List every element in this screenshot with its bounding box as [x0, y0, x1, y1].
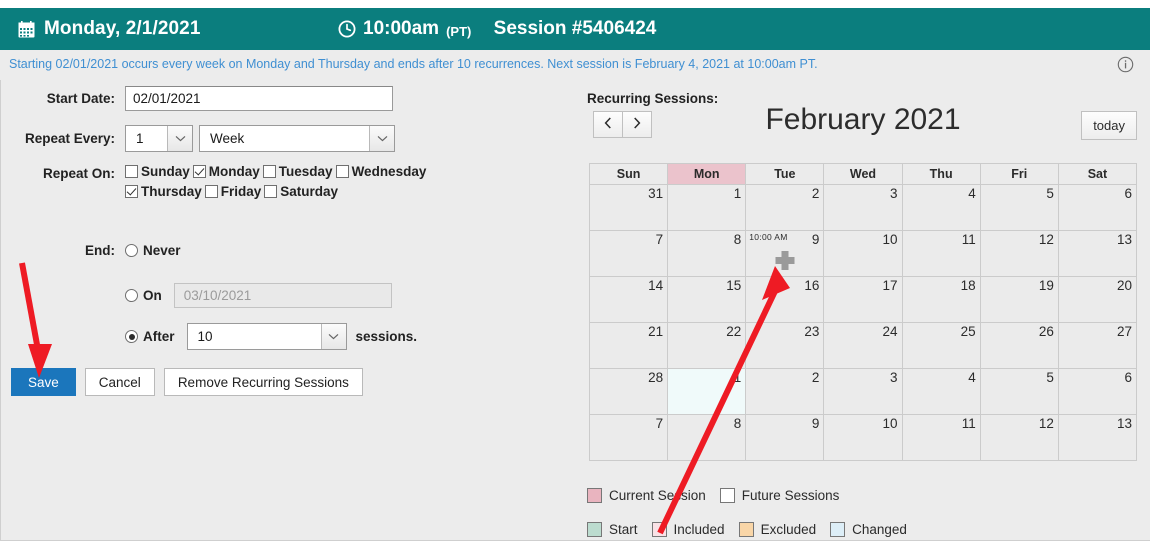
legend-swatch [587, 522, 602, 537]
day-number: 12 [1039, 232, 1054, 247]
calendar-day-cell[interactable]: 9 [746, 415, 824, 461]
day-number: 23 [804, 324, 819, 339]
day-number: 7 [656, 416, 664, 431]
day-number: 16 [804, 278, 819, 293]
day-number: 11 [962, 232, 976, 247]
day-number: 6 [1124, 186, 1132, 201]
weekday-checkbox-friday[interactable]: Friday [205, 184, 262, 199]
day-number: 31 [648, 186, 663, 201]
calendar-day-cell[interactable]: 2 [746, 185, 824, 231]
legend-label: Start [609, 522, 638, 537]
calendar-day-cell[interactable]: 22 [668, 323, 746, 369]
calendar-day-cell[interactable]: 11 [902, 231, 980, 277]
end-label: End: [1, 243, 115, 258]
weekday-header-thu: Thu [902, 164, 980, 185]
calendar-week-row: 7810:00 AM910111213 [590, 231, 1137, 277]
day-number: 28 [648, 370, 663, 385]
calendar-day-cell[interactable]: 10:00 AM9 [746, 231, 824, 277]
calendar-week-row: 21222324252627 [590, 323, 1137, 369]
calendar-day-cell[interactable]: 18 [902, 277, 980, 323]
calendar-day-cell[interactable]: 27 [1058, 323, 1136, 369]
end-after-radio[interactable] [125, 330, 138, 343]
repeat-interval-select[interactable]: 1 [125, 125, 193, 152]
calendar-day-cell[interactable]: 31 [590, 185, 668, 231]
save-button[interactable]: Save [11, 368, 76, 396]
weekday-checkbox-tuesday[interactable]: Tuesday [263, 164, 333, 179]
session-time-label: 10:00 AM [749, 232, 787, 242]
legend-label: Future Sessions [742, 488, 840, 503]
calendar-weekday-header: Sun Mon Tue Wed Thu Fri Sat [590, 164, 1137, 185]
calendar-week-row: 14151617181920 [590, 277, 1137, 323]
day-number: 24 [883, 324, 898, 339]
calendar-icon [18, 21, 35, 38]
calendar-day-cell[interactable]: 8 [668, 231, 746, 277]
calendar-day-cell[interactable]: 5 [980, 185, 1058, 231]
weekday-checkbox-sunday[interactable]: Sunday [125, 164, 190, 179]
day-number: 12 [1039, 416, 1054, 431]
calendar-day-cell[interactable]: 3 [824, 369, 902, 415]
day-number: 17 [883, 278, 898, 293]
day-number: 1 [734, 370, 742, 385]
legend-item: Excluded [739, 522, 817, 537]
calendar-day-cell[interactable]: 20 [1058, 277, 1136, 323]
calendar-day-cell[interactable]: 2 [746, 369, 824, 415]
start-date-row: Start Date: 02/01/2021 [1, 86, 393, 111]
calendar-day-cell[interactable]: 12 [980, 415, 1058, 461]
legend-swatch [587, 488, 602, 503]
calendar-day-cell[interactable]: 4 [902, 185, 980, 231]
legend-label: Current Session [609, 488, 706, 503]
repeat-on-row: Repeat On: Sunday Monday Tue [1, 164, 429, 199]
day-number: 13 [1117, 232, 1132, 247]
day-number: 21 [648, 324, 663, 339]
header-date-text: Monday, 2/1/2021 [44, 18, 201, 40]
calendar-day-cell[interactable]: 3 [824, 185, 902, 231]
weekday-line-1: Sunday Monday Tuesday Wednesday [125, 164, 429, 179]
day-number: 18 [961, 278, 976, 293]
repeat-every-row: Repeat Every: 1 Week [1, 125, 395, 152]
weekday-checkbox-group: Sunday Monday Tuesday Wednesday [125, 164, 429, 199]
weekday-label: Monday [209, 164, 260, 179]
legend-swatch [830, 522, 845, 537]
header-time-text: 10:00am [363, 18, 439, 40]
calendar-day-cell[interactable]: 26 [980, 323, 1058, 369]
day-number: 8 [734, 232, 742, 247]
calendar-day-cell[interactable]: 24 [824, 323, 902, 369]
day-number: 8 [734, 416, 742, 431]
session-header-bar: Monday, 2/1/2021 10:00am (PT) Session #5… [0, 8, 1150, 50]
chevron-down-icon [167, 126, 192, 151]
calendar-day-cell[interactable]: 6 [1058, 185, 1136, 231]
info-circle-icon[interactable] [1117, 56, 1134, 73]
calendar-week-row: 31123456 [590, 185, 1137, 231]
header-time-group: 10:00am (PT) [338, 18, 471, 40]
weekday-checkbox-saturday[interactable]: Saturday [264, 184, 338, 199]
checkbox-box [264, 185, 277, 198]
weekday-checkbox-thursday[interactable]: Thursday [125, 184, 202, 199]
clock-icon [338, 20, 356, 38]
day-number: 14 [648, 278, 663, 293]
checkbox-box [205, 185, 218, 198]
day-number: 10 [883, 232, 898, 247]
repeat-interval-value: 1 [136, 131, 144, 146]
legend-label: Included [674, 522, 725, 537]
weekday-header-tue: Tue [746, 164, 824, 185]
calendar-day-cell[interactable]: 7 [590, 415, 668, 461]
weekday-header-wed: Wed [824, 164, 902, 185]
legend-swatch [652, 522, 667, 537]
day-number: 3 [890, 186, 898, 201]
weekday-header-fri: Fri [980, 164, 1058, 185]
calendar-day-cell[interactable]: 23 [746, 323, 824, 369]
calendar-day-cell[interactable]: 17 [824, 277, 902, 323]
day-number: 9 [812, 416, 820, 431]
chevron-down-icon [369, 126, 394, 151]
day-number: 5 [1046, 370, 1054, 385]
header-date-group: Monday, 2/1/2021 [18, 18, 201, 40]
remove-recurring-sessions-button[interactable]: Remove Recurring Sessions [164, 368, 363, 396]
end-after-count-value: 10 [198, 329, 213, 344]
day-number: 25 [961, 324, 976, 339]
header-timezone: (PT) [446, 24, 471, 39]
calendar-day-cell[interactable]: 4 [902, 369, 980, 415]
end-after-suffix: sessions. [356, 329, 418, 344]
recurrence-form: Start Date: 02/01/2021 Repeat Every: 1 W… [1, 80, 576, 540]
calendar-day-cell[interactable]: 28 [590, 369, 668, 415]
day-number: 1 [734, 186, 742, 201]
end-after-label: After [143, 329, 175, 344]
weekday-checkbox-monday[interactable]: Monday [193, 164, 260, 179]
legend-item: Current Session [587, 488, 706, 503]
calendar-day-cell[interactable]: 10 [824, 415, 902, 461]
end-on-date-input[interactable]: 03/10/2021 [174, 283, 392, 308]
weekday-line-2: Thursday Friday Saturday [125, 184, 429, 199]
calendar-week-row: 28123456 [590, 369, 1137, 415]
day-number: 4 [968, 186, 976, 201]
calendar-day-cell[interactable]: 1 [668, 369, 746, 415]
calendar-body: 311234567810:00 AM9101112131415161718192… [590, 185, 1137, 461]
day-number: 2 [812, 370, 820, 385]
calendar-toolbar: February 2021 today [587, 111, 1139, 141]
weekday-checkbox-wednesday[interactable]: Wednesday [336, 164, 427, 179]
calendar-day-cell[interactable]: 11 [902, 415, 980, 461]
calendar-day-cell[interactable]: 10 [824, 231, 902, 277]
weekday-label: Wednesday [352, 164, 427, 179]
weekday-header-mon: Mon [668, 164, 746, 185]
day-number: 6 [1124, 370, 1132, 385]
calendar-legend: Current SessionFuture Sessions StartIncl… [587, 480, 1139, 544]
weekday-label: Sunday [141, 164, 190, 179]
day-number: 15 [726, 278, 741, 293]
checkbox-box [263, 165, 276, 178]
end-never-radio[interactable] [125, 244, 138, 257]
calendar-day-cell[interactable]: 13 [1058, 415, 1136, 461]
today-button[interactable]: today [1081, 111, 1137, 140]
calendar-day-cell[interactable]: 5 [980, 369, 1058, 415]
weekday-label: Friday [221, 184, 262, 199]
end-on-row: On 03/10/2021 [1, 283, 392, 308]
calendar-week-row: 78910111213 [590, 415, 1137, 461]
legend-swatch [720, 488, 735, 503]
repeat-unit-value: Week [210, 131, 244, 146]
calendar-day-cell[interactable]: 7 [590, 231, 668, 277]
editor-panel: Start Date: 02/01/2021 Repeat Every: 1 W… [0, 80, 1150, 541]
calendar-day-cell[interactable]: 13 [1058, 231, 1136, 277]
end-never-row: End: Never [1, 243, 181, 258]
legend-label: Changed [852, 522, 907, 537]
start-date-label: Start Date: [1, 91, 115, 106]
checkbox-box [125, 185, 138, 198]
day-number: 11 [962, 416, 976, 431]
calendar-day-cell[interactable]: 14 [590, 277, 668, 323]
legend-item: Future Sessions [720, 488, 840, 503]
repeat-unit-select[interactable]: Week [199, 125, 395, 152]
legend-row-2: StartIncludedExcludedChanged [587, 514, 1139, 544]
day-number: 4 [968, 370, 976, 385]
weekday-header-sun: Sun [590, 164, 668, 185]
calendar-day-cell[interactable]: 6 [1058, 369, 1136, 415]
calendar-day-cell[interactable]: 8 [668, 415, 746, 461]
legend-item: Changed [830, 522, 907, 537]
day-number: 10 [883, 416, 898, 431]
end-on-label: On [143, 288, 162, 303]
plus-cursor-icon [775, 251, 794, 270]
repeat-on-label: Repeat On: [1, 164, 115, 181]
calendar-day-cell[interactable]: 19 [980, 277, 1058, 323]
weekday-label: Tuesday [279, 164, 333, 179]
legend-row-1: Current SessionFuture Sessions [587, 480, 1139, 510]
day-number: 2 [812, 186, 820, 201]
legend-item: Start [587, 522, 638, 537]
end-on-radio[interactable] [125, 289, 138, 302]
day-number: 3 [890, 370, 898, 385]
calendar-grid: Sun Mon Tue Wed Thu Fri Sat 311234567810… [589, 163, 1137, 461]
checkbox-box [193, 165, 206, 178]
legend-item: Included [652, 522, 725, 537]
calendar-day-cell[interactable]: 12 [980, 231, 1058, 277]
day-number: 27 [1117, 324, 1132, 339]
chevron-down-icon [321, 324, 346, 349]
day-number: 5 [1046, 186, 1054, 201]
calendar-day-cell[interactable]: 25 [902, 323, 980, 369]
day-number: 20 [1117, 278, 1132, 293]
calendar-day-cell[interactable]: 16 [746, 277, 824, 323]
weekday-label: Saturday [280, 184, 338, 199]
day-number: 22 [726, 324, 741, 339]
repeat-every-label: Repeat Every: [1, 131, 115, 146]
recurrence-summary-bar: Starting 02/01/2021 occurs every week on… [0, 50, 1150, 81]
end-after-count-select[interactable]: 10 [187, 323, 347, 350]
day-number: 7 [656, 232, 664, 247]
weekday-label: Thursday [141, 184, 202, 199]
start-date-input[interactable]: 02/01/2021 [125, 86, 393, 111]
legend-swatch [739, 522, 754, 537]
calendar-day-cell[interactable]: 15 [668, 277, 746, 323]
weekday-header-sat: Sat [1058, 164, 1136, 185]
form-button-row: Save Cancel Remove Recurring Sessions [11, 368, 363, 396]
checkbox-box [125, 165, 138, 178]
legend-label: Excluded [761, 522, 817, 537]
calendar-month-title: February 2021 [587, 103, 1139, 137]
recurrence-summary-text: Starting 02/01/2021 occurs every week on… [9, 57, 818, 71]
day-number: 26 [1039, 324, 1054, 339]
end-after-row: After 10 sessions. [1, 323, 417, 350]
end-never-label: Never [143, 243, 181, 258]
recurring-session-editor: Monday, 2/1/2021 10:00am (PT) Session #5… [0, 0, 1150, 549]
checkbox-box [336, 165, 349, 178]
day-number: 9 [812, 232, 820, 247]
day-number: 19 [1039, 278, 1054, 293]
day-number: 13 [1117, 416, 1132, 431]
cancel-button[interactable]: Cancel [85, 368, 155, 396]
calendar-day-cell[interactable]: 21 [590, 323, 668, 369]
calendar-day-cell[interactable]: 1 [668, 185, 746, 231]
